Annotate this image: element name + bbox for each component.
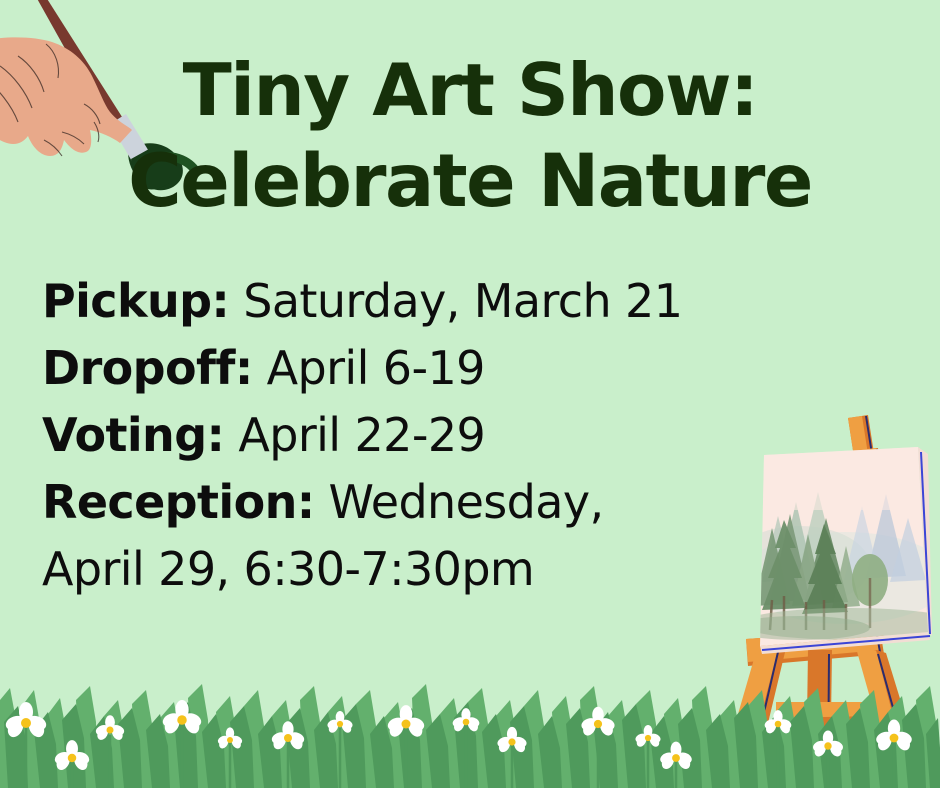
detail-value-dropoff: April 6-19: [253, 341, 485, 395]
detail-value-reception: Wednesday,: [315, 475, 604, 529]
poster-title: Tiny Art Show: Celebrate Nature: [0, 44, 940, 228]
detail-row-pickup: Pickup: Saturday, March 21: [42, 268, 802, 335]
detail-row-reception-continued: April 29, 6:30-7:30pm: [42, 536, 802, 603]
detail-row-reception: Reception: Wednesday,: [42, 469, 802, 536]
detail-row-dropoff: Dropoff: April 6-19: [42, 335, 802, 402]
title-line-1: Tiny Art Show:: [0, 44, 940, 136]
detail-label-pickup: Pickup:: [42, 274, 229, 328]
meadow-flowers: [4, 700, 914, 788]
detail-value-pickup: Saturday, March 21: [229, 274, 682, 328]
title-line-2: Celebrate Nature: [0, 136, 940, 228]
detail-label-voting: Voting:: [42, 408, 224, 462]
grass-meadow: [0, 684, 940, 788]
detail-label-dropoff: Dropoff:: [42, 341, 253, 395]
event-details: Pickup: Saturday, March 21 Dropoff: Apri…: [42, 268, 802, 603]
detail-label-reception: Reception:: [42, 475, 315, 529]
poster-canvas: Tiny Art Show: Celebrate Nature Pickup: …: [0, 0, 940, 788]
detail-value-voting: April 22-29: [224, 408, 485, 462]
detail-row-voting: Voting: April 22-29: [42, 402, 802, 469]
